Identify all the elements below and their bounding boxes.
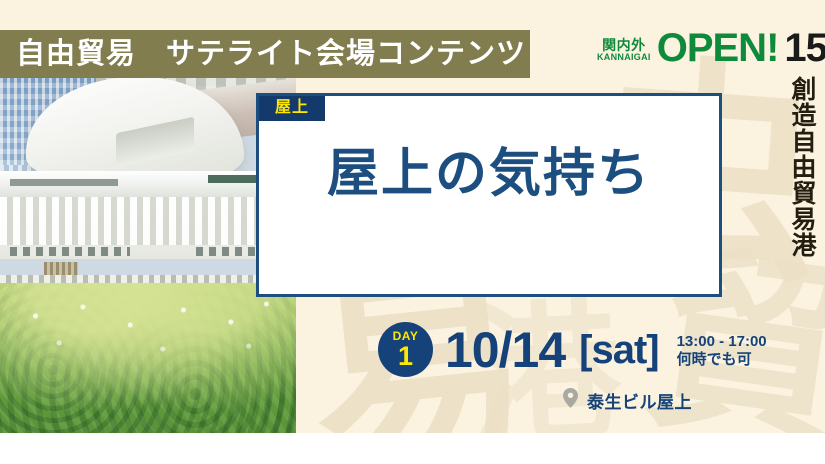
header-band-title: 自由貿易 サテライト会場コンテンツ xyxy=(16,40,526,69)
rooftop-photo xyxy=(0,47,296,433)
card-program-title: 屋上の気持ち xyxy=(259,146,719,203)
event-day-of-week: [sat] xyxy=(579,330,658,370)
day-badge: DAY 1 xyxy=(378,322,433,377)
header-band: 自由貿易 サテライト会場コンテンツ xyxy=(0,30,530,78)
kannaigai-open-logo: 関内外 KANNAIGAI OPEN! 15 xyxy=(597,29,825,67)
background-canvas: 虫 易 貿 港 自由貿易 サテライト会場コンテンツ xyxy=(0,0,825,433)
logo-edition-number: 15 xyxy=(784,29,825,67)
photo-window-row-left xyxy=(10,247,130,256)
event-time-note: 何時でも可 xyxy=(677,351,767,369)
content-card: 屋上 屋上の気持ち xyxy=(256,93,722,297)
card-category-badge: 屋上 xyxy=(259,96,325,121)
event-time-range: 13:00 - 17:00 xyxy=(677,333,767,351)
photo-railing xyxy=(0,197,296,245)
vertical-tagline: 創造自由貿易港 xyxy=(786,76,816,258)
logo-romaji-text: KANNAIGAI xyxy=(597,53,651,63)
event-date: 10/14 xyxy=(445,325,565,375)
venue-row: 泰生ビル屋上 xyxy=(563,388,692,413)
day-badge-label: DAY xyxy=(393,330,419,342)
photo-facade-slot-left xyxy=(10,179,118,186)
event-time-block: 13:00 - 17:00 何時でも可 xyxy=(677,333,767,370)
photo-rooftop-vegetation xyxy=(0,283,296,433)
venue-name: 泰生ビル屋上 xyxy=(587,388,692,413)
day-badge-number: 1 xyxy=(398,343,413,370)
event-banner: 虫 易 貿 港 自由貿易 サテライト会場コンテンツ xyxy=(0,0,825,464)
location-pin-icon xyxy=(563,388,578,413)
schedule-row: DAY 1 10/14 [sat] 13:00 - 17:00 何時でも可 xyxy=(378,322,767,377)
logo-brand-block: 関内外 KANNAIGAI xyxy=(597,38,651,67)
logo-open-text: OPEN! xyxy=(657,29,779,67)
logo-kanji-text: 関内外 xyxy=(602,38,646,53)
